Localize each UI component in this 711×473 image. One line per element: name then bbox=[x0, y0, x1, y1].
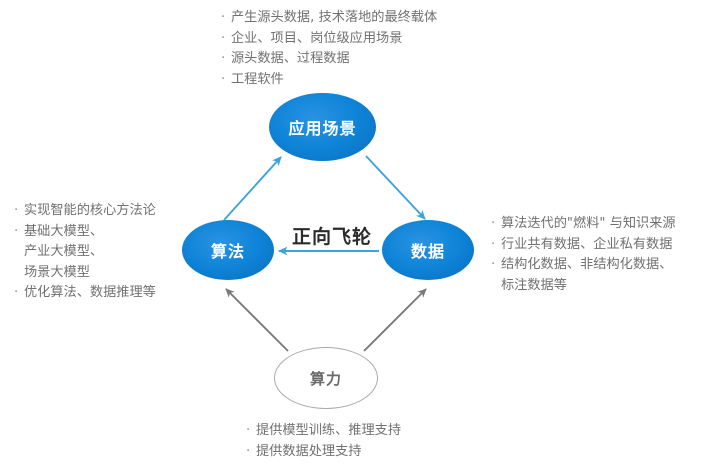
bullet-item: ·源头数据、过程数据 bbox=[221, 49, 521, 70]
bullet-text: 算法迭代的"燃料" 与知识来源 bbox=[501, 214, 706, 235]
bullet-item: ·结构化数据、非结构化数据、 标注数据等 bbox=[491, 255, 706, 296]
bullet-marker-icon: · bbox=[221, 70, 231, 91]
node-application-scene[interactable]: 应用场景 bbox=[269, 93, 376, 161]
node-data-label: 数据 bbox=[411, 238, 445, 262]
annotation-data: ·算法迭代的"燃料" 与知识来源·行业共有数据、企业私有数据·结构化数据、非结构… bbox=[491, 214, 706, 296]
node-computing-power-label: 算力 bbox=[310, 368, 342, 389]
flywheel-diagram: 正向飞轮 应用场景 算法 数据 算力 ·产生源头数据, 技术落地的最终载体·企业… bbox=[0, 0, 711, 473]
bullet-marker-icon: · bbox=[246, 421, 256, 442]
node-computing-power[interactable]: 算力 bbox=[274, 347, 378, 409]
bullet-item: ·工程软件 bbox=[221, 70, 521, 91]
annotation-application-scene: ·产生源头数据, 技术落地的最终载体·企业、项目、岗位级应用场景·源头数据、过程… bbox=[221, 8, 521, 90]
node-data[interactable]: 数据 bbox=[382, 220, 474, 280]
arrow-compute-to-algorithm bbox=[226, 289, 288, 351]
node-application-scene-label: 应用场景 bbox=[288, 115, 356, 139]
bullet-text: 基础大模型、 产业大模型、 场景大模型 bbox=[24, 222, 184, 284]
bullet-marker-icon: · bbox=[491, 235, 501, 256]
bullet-text: 源头数据、过程数据 bbox=[231, 49, 521, 70]
arrow-scene-to-data bbox=[366, 156, 425, 219]
bullet-text: 企业、项目、岗位级应用场景 bbox=[231, 29, 521, 50]
bullet-item: ·企业、项目、岗位级应用场景 bbox=[221, 29, 521, 50]
bullet-item: ·算法迭代的"燃料" 与知识来源 bbox=[491, 214, 706, 235]
bullet-marker-icon: · bbox=[246, 442, 256, 463]
bullet-text: 优化算法、数据推理等 bbox=[24, 283, 184, 304]
bullet-text: 行业共有数据、企业私有数据 bbox=[501, 235, 706, 256]
bullet-marker-icon: · bbox=[221, 49, 231, 70]
arrow-algorithm-to-scene bbox=[224, 157, 281, 220]
bullet-item: ·优化算法、数据推理等 bbox=[14, 283, 184, 304]
bullet-item: ·基础大模型、 产业大模型、 场景大模型 bbox=[14, 222, 184, 284]
bullet-marker-icon: · bbox=[14, 222, 24, 243]
center-title: 正向飞轮 bbox=[276, 222, 388, 249]
bullet-item: ·行业共有数据、企业私有数据 bbox=[491, 235, 706, 256]
bullet-marker-icon: · bbox=[491, 214, 501, 235]
node-algorithm[interactable]: 算法 bbox=[182, 220, 274, 280]
bullet-marker-icon: · bbox=[491, 255, 501, 276]
bullet-text: 实现智能的核心方法论 bbox=[24, 201, 184, 222]
bullet-marker-icon: · bbox=[14, 283, 24, 304]
bullet-text: 提供数据处理支持 bbox=[256, 442, 476, 463]
bullet-marker-icon: · bbox=[14, 201, 24, 222]
bullet-text: 提供模型训练、推理支持 bbox=[256, 421, 476, 442]
bullet-item: ·产生源头数据, 技术落地的最终载体 bbox=[221, 8, 521, 29]
annotation-algorithm: ·实现智能的核心方法论·基础大模型、 产业大模型、 场景大模型·优化算法、数据推… bbox=[14, 201, 184, 304]
bullet-text: 结构化数据、非结构化数据、 标注数据等 bbox=[501, 255, 706, 296]
bullet-item: ·提供数据处理支持 bbox=[246, 442, 476, 463]
bullet-marker-icon: · bbox=[221, 29, 231, 50]
bullet-marker-icon: · bbox=[221, 8, 231, 29]
bullet-text: 产生源头数据, 技术落地的最终载体 bbox=[231, 8, 521, 29]
bullet-item: ·实现智能的核心方法论 bbox=[14, 201, 184, 222]
bullet-item: ·提供模型训练、推理支持 bbox=[246, 421, 476, 442]
node-algorithm-label: 算法 bbox=[211, 238, 245, 262]
arrow-compute-to-data bbox=[364, 289, 426, 351]
bullet-text: 工程软件 bbox=[231, 70, 521, 91]
annotation-computing-power: ·提供模型训练、推理支持·提供数据处理支持 bbox=[246, 421, 476, 462]
